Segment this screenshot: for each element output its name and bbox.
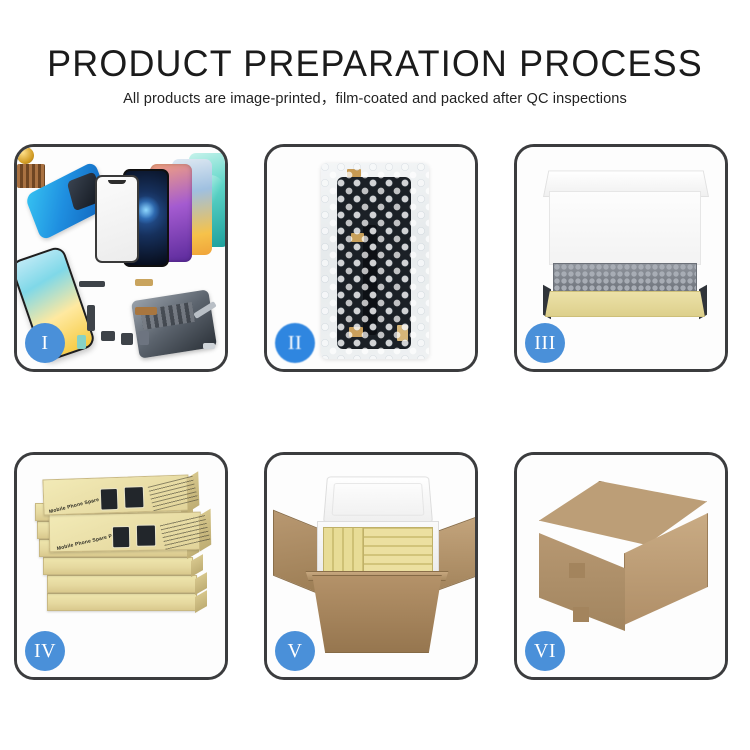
step-3-image: III — [517, 147, 725, 369]
step-5-image: V — [267, 455, 475, 677]
small-part — [121, 333, 133, 345]
small-part — [101, 331, 115, 341]
retail-box-top: Mobile Phone Spare Parts — [42, 474, 189, 515]
product-preparation-infographic: PRODUCT PREPARATION PROCESS All products… — [0, 0, 750, 750]
bubble-texture — [321, 163, 429, 359]
retail-box — [43, 557, 193, 575]
small-part — [203, 343, 215, 349]
step-panel-5[interactable]: V — [264, 452, 478, 680]
step-badge-5: V — [275, 631, 315, 671]
step-1-image: I — [17, 147, 225, 369]
step-badge-4: IV — [25, 631, 65, 671]
step-badge-3: III — [525, 323, 565, 363]
phone-front-glass — [95, 175, 139, 263]
bubble-wrap-bag — [321, 163, 429, 359]
step-panel-6[interactable]: VI — [514, 452, 728, 680]
gold-component — [17, 147, 34, 164]
retail-box — [47, 575, 197, 593]
packed-boxes — [363, 527, 433, 573]
step-badge-1: I — [25, 323, 65, 363]
box-front-panel — [545, 291, 705, 317]
foam-cooler-lid — [323, 477, 433, 523]
carton-front — [305, 575, 449, 653]
foam-sheet — [549, 191, 701, 265]
step-panel-4[interactable]: Mobile Phone Spare Parts Mobile Phone Sp… — [14, 452, 228, 680]
small-part — [139, 331, 149, 345]
small-part — [87, 305, 95, 331]
header: PRODUCT PREPARATION PROCESS All products… — [0, 0, 750, 128]
step-badge-2: II — [275, 323, 315, 363]
small-part — [135, 279, 153, 286]
step-badge-6: VI — [525, 631, 565, 671]
small-part — [79, 281, 105, 287]
step-panel-1[interactable]: I — [14, 144, 228, 372]
step-6-image: VI — [517, 455, 725, 677]
grey-bubble-foam — [553, 263, 697, 293]
step-2-image: II — [267, 147, 475, 369]
step-panel-2[interactable]: II — [264, 144, 478, 372]
retail-box-top-front: Mobile Phone Spare Parts — [49, 512, 202, 553]
carton-tape — [569, 563, 585, 578]
step-panel-3[interactable]: III — [514, 144, 728, 372]
page-subtitle: All products are image-printed，film-coat… — [0, 90, 750, 108]
small-part — [77, 335, 86, 349]
retail-box — [47, 593, 197, 611]
small-part — [135, 307, 157, 315]
carton-tape — [573, 607, 589, 622]
chip-array — [17, 164, 45, 188]
step-4-image: Mobile Phone Spare Parts Mobile Phone Sp… — [17, 455, 225, 677]
page-title: PRODUCT PREPARATION PROCESS — [11, 44, 739, 84]
